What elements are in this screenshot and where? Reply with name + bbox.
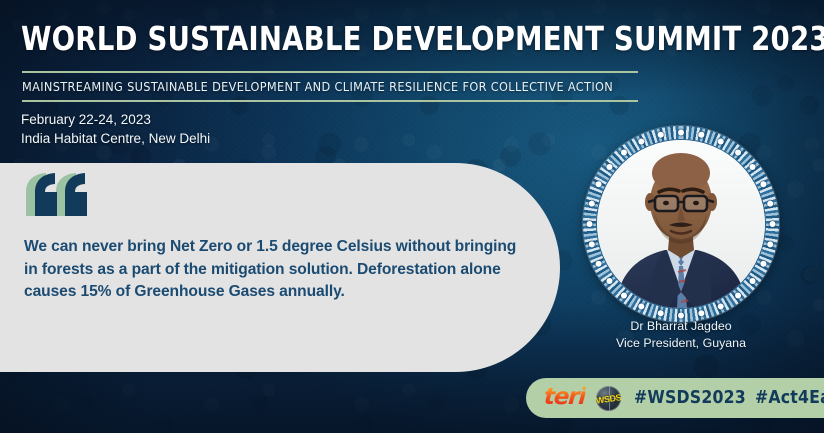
event-venue: India Habitat Centre, New Delhi: [21, 129, 210, 148]
event-dates: February 22-24, 2023: [21, 110, 210, 129]
event-meta: February 22-24, 2023 India Habitat Centr…: [21, 110, 210, 148]
event-subtitle: MAINSTREAMING SUSTAINABLE DEVELOPMENT AN…: [22, 79, 613, 94]
quote-mark-navy-layer: [33, 172, 93, 216]
quote-mark-icon: [24, 172, 84, 216]
teri-logo[interactable]: teri: [543, 386, 586, 409]
wsds-logo-label: WSDS: [596, 386, 621, 411]
speaker-role: Vice President, Guyana: [583, 335, 779, 352]
quote-text: We can never bring Net Zero or 1.5 degre…: [24, 236, 524, 304]
hashtag-act4earth[interactable]: #Act4Earth: [755, 388, 824, 408]
speaker-portrait: [583, 126, 779, 322]
hashtags: #WSDS2023#Act4Earth: [634, 388, 824, 408]
wsds-globe-logo[interactable]: WSDS: [596, 386, 621, 411]
divider-top: [22, 71, 638, 73]
footer-badge-bar: teri WSDS #WSDS2023#Act4Earth: [526, 378, 824, 418]
hashtag-wsds2023[interactable]: #WSDS2023: [634, 388, 746, 408]
quote-card: WORLD SUSTAINABLE DEVELOPMENT SUMMIT 202…: [0, 0, 824, 433]
divider-bottom: [22, 100, 638, 102]
speaker-name: Dr Bharrat Jagdeo: [583, 318, 779, 335]
speaker-caption: Dr Bharrat Jagdeo Vice President, Guyana: [583, 318, 779, 352]
avatar: [597, 140, 765, 308]
page-title: WORLD SUSTAINABLE DEVELOPMENT SUMMIT 202…: [21, 19, 824, 58]
